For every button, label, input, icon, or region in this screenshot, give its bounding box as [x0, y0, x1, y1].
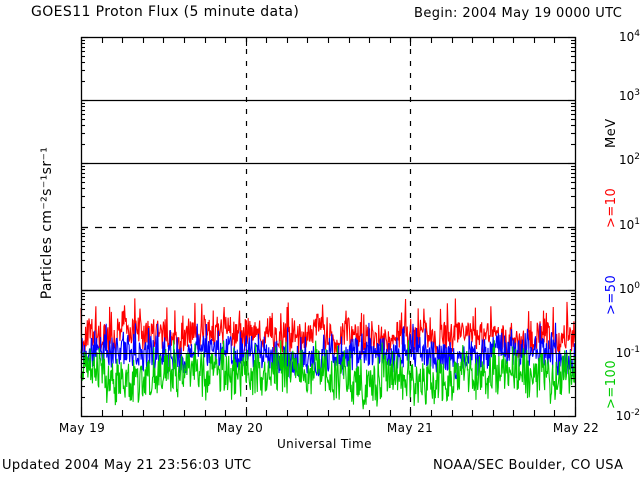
proton-flux-plot-page: GOES11 Proton Flux (5 minute data) Begin…: [0, 0, 640, 480]
proton-flux-chart: [0, 0, 640, 480]
